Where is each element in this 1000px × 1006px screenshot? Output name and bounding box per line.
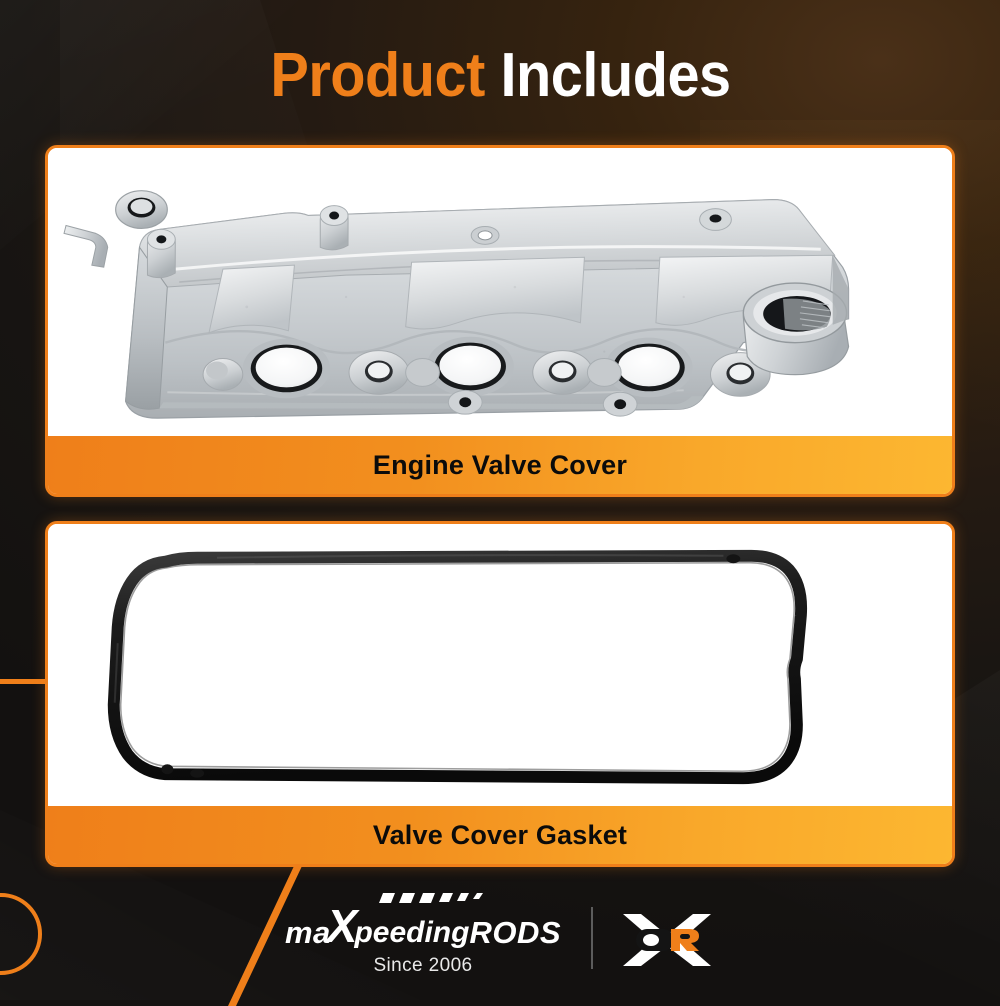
gasket-locator-tabs (161, 554, 740, 777)
badge-o-hole (643, 934, 659, 946)
product-card-engine-valve-cover[interactable]: Engine Valve Cover (45, 145, 955, 497)
page-title-text: Product Includes (270, 45, 730, 107)
top-deck-center-hole (471, 226, 499, 244)
badge-r-hole (680, 934, 690, 939)
breather-nipple (64, 225, 108, 267)
badge-r-shape (671, 929, 699, 951)
footer-divider (591, 907, 593, 969)
breather-port-collar (116, 191, 168, 229)
spark-plug-holes (243, 337, 693, 399)
product-photo-engine-valve-cover (48, 148, 952, 436)
brand-middle: peeding (354, 918, 469, 948)
brand-suffix: RODS (469, 917, 561, 948)
product-caption-engine-valve-cover: Engine Valve Cover (48, 436, 952, 494)
xor-badge-logo[interactable] (619, 911, 715, 969)
checkered-flag-icon (377, 891, 485, 908)
brand-x-letter: X (327, 903, 358, 949)
gasket-inner-seam (121, 563, 795, 772)
footer-logo-bar: ma X peeding RODS Since 2006 (0, 880, 1000, 1000)
brand-tagline: Since 2006 (373, 955, 472, 977)
product-photo-valve-cover-gasket (48, 524, 952, 806)
gasket-outer-contour (114, 556, 801, 778)
valve-cover-gasket-illustration (48, 524, 952, 806)
engine-valve-cover-illustration (48, 148, 952, 436)
page-title: Product Includes (0, 30, 1000, 122)
right-bolt-boss (700, 209, 732, 231)
page-title-word-product: Product (270, 41, 485, 110)
brand-logo[interactable]: ma X peeding RODS Since 2006 (285, 903, 561, 977)
page-title-space (484, 41, 500, 110)
brand-prefix: ma (285, 917, 331, 948)
brand-wordmark: ma X peeding RODS (285, 903, 561, 948)
product-caption-valve-cover-gasket: Valve Cover Gasket (48, 806, 952, 864)
page-title-word-includes: Includes (500, 41, 730, 110)
product-card-valve-cover-gasket[interactable]: Valve Cover Gasket (45, 521, 955, 867)
